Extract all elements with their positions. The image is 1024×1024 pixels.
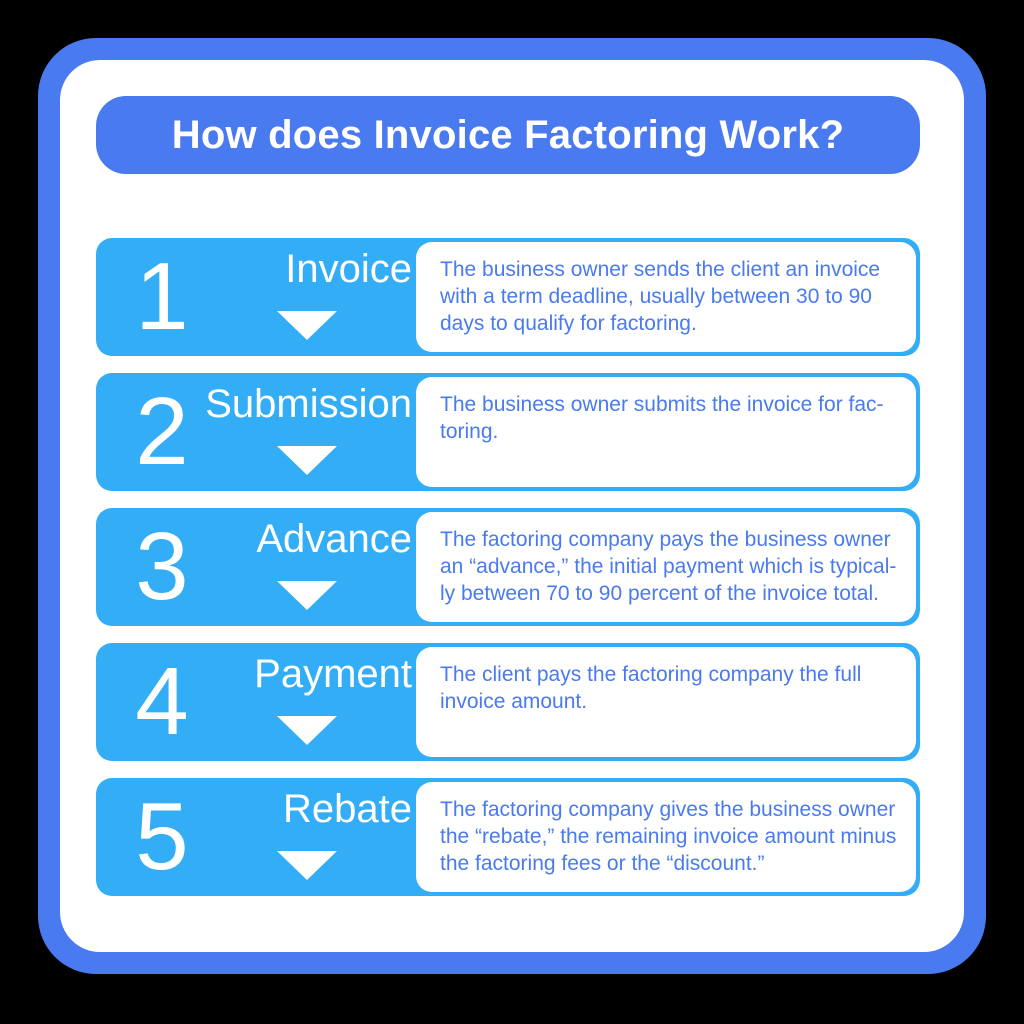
- step-number: 5: [114, 789, 210, 885]
- infographic-root: How does Invoice Factoring Work? 1 Invoi…: [0, 0, 1024, 1024]
- step-label-column: Submission: [200, 373, 414, 491]
- step-description-card: The client pays the factoring company th…: [416, 647, 916, 757]
- title-bar: How does Invoice Factoring Work?: [96, 96, 920, 174]
- step-description-card: The business owner sends the client an i…: [416, 242, 916, 352]
- step-description-card: The business owner submits the invoice f…: [416, 377, 916, 487]
- step-description-text: The client pays the factoring company th…: [440, 661, 898, 715]
- step-label: Advance: [256, 516, 412, 562]
- step-label-column: Advance: [200, 508, 414, 626]
- step-label: Invoice: [285, 246, 412, 292]
- step-label-column: Invoice: [200, 238, 414, 356]
- triangle-down-icon: [277, 851, 337, 880]
- triangle-down-icon: [277, 446, 337, 475]
- page-title: How does Invoice Factoring Work?: [172, 113, 844, 158]
- step-number: 4: [114, 654, 210, 750]
- step-label: Rebate: [283, 786, 412, 832]
- step-description-text: The business owner sends the client an i…: [440, 256, 898, 337]
- step-description-text: The business owner submits the invoice f…: [440, 391, 898, 445]
- step-number: 1: [114, 249, 210, 345]
- step-description-text: The factoring company gives the business…: [440, 796, 898, 877]
- step-row: 1 Invoice The business owner sends the c…: [96, 238, 920, 356]
- step-number: 3: [114, 519, 210, 615]
- step-label: Submission: [205, 381, 412, 427]
- outer-frame: How does Invoice Factoring Work? 1 Invoi…: [38, 38, 986, 974]
- step-row: 5 Rebate The factoring company gives the…: [96, 778, 920, 896]
- step-label-column: Payment: [200, 643, 414, 761]
- step-description-card: The factoring company gives the business…: [416, 782, 916, 892]
- triangle-down-icon: [277, 716, 337, 745]
- steps-list: 1 Invoice The business owner sends the c…: [96, 238, 920, 896]
- step-label-column: Rebate: [200, 778, 414, 896]
- triangle-down-icon: [277, 311, 337, 340]
- step-row: 3 Advance The factoring company pays the…: [96, 508, 920, 626]
- triangle-down-icon: [277, 581, 337, 610]
- step-description-card: The factoring company pays the business …: [416, 512, 916, 622]
- inner-card: How does Invoice Factoring Work? 1 Invoi…: [60, 60, 964, 952]
- step-label: Payment: [254, 651, 412, 697]
- step-row: 2 Submission The business owner submits …: [96, 373, 920, 491]
- step-number: 2: [114, 384, 210, 480]
- step-row: 4 Payment The client pays the factoring …: [96, 643, 920, 761]
- step-description-text: The factoring company pays the business …: [440, 526, 898, 607]
